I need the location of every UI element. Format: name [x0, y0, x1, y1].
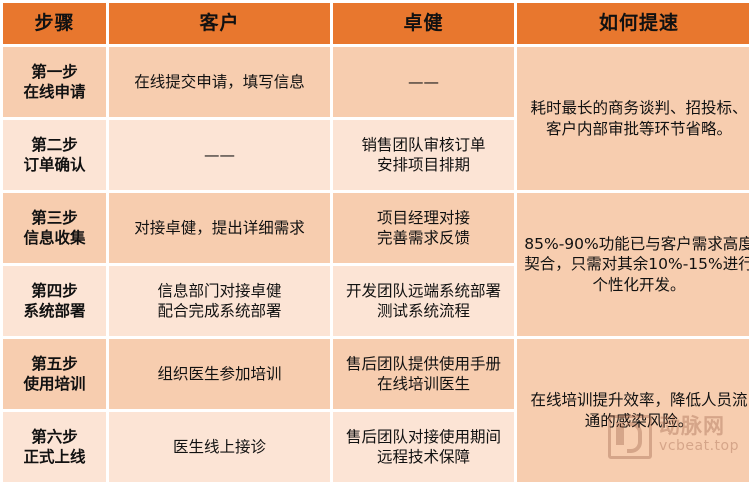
column-header-customer: 客户: [109, 3, 330, 44]
process-table-container: 步骤 客户 卓健 如何提速 第一步 在线申请 在线提交申请，填写信息 —— 耗时…: [0, 0, 749, 467]
zhuojian-task-2: 销售团队审核订单 安排项目排期: [333, 120, 514, 190]
speedup-note-2: 85%-90%功能已与客户需求高度契合，只需对其余10%-15%进行个性化开发。: [517, 193, 749, 336]
table-header-row: 步骤 客户 卓健 如何提速: [3, 3, 749, 44]
speedup-note-1: 耗时最长的商务谈判、招投标、客户内部审批等环节省略。: [517, 47, 749, 190]
zhuojian-task-3: 项目经理对接 完善需求反馈: [333, 193, 514, 263]
column-header-zhuojian: 卓健: [333, 3, 514, 44]
customer-task-2: ——: [109, 120, 330, 190]
zhuojian-task-6: 售后团队对接使用期间 远程技术保障: [333, 412, 514, 482]
table-header: 步骤 客户 卓健 如何提速: [3, 3, 749, 44]
step-label-3: 第三步 信息收集: [3, 193, 106, 263]
customer-task-5: 组织医生参加培训: [109, 339, 330, 409]
customer-task-4: 信息部门对接卓健 配合完成系统部署: [109, 266, 330, 336]
table-row: 第五步 使用培训 组织医生参加培训 售后团队提供使用手册 在线培训医生 在线培训…: [3, 339, 749, 409]
table-body: 第一步 在线申请 在线提交申请，填写信息 —— 耗时最长的商务谈判、招投标、客户…: [3, 47, 749, 482]
customer-task-6: 医生线上接诊: [109, 412, 330, 482]
zhuojian-task-4: 开发团队远端系统部署 测试系统流程: [333, 266, 514, 336]
zhuojian-task-5: 售后团队提供使用手册 在线培训医生: [333, 339, 514, 409]
column-header-speedup: 如何提速: [517, 3, 749, 44]
zhuojian-task-1: ——: [333, 47, 514, 117]
step-label-2: 第二步 订单确认: [3, 120, 106, 190]
step-label-4: 第四步 系统部署: [3, 266, 106, 336]
customer-task-1: 在线提交申请，填写信息: [109, 47, 330, 117]
step-label-1: 第一步 在线申请: [3, 47, 106, 117]
table-row: 第三步 信息收集 对接卓健，提出详细需求 项目经理对接 完善需求反馈 85%-9…: [3, 193, 749, 263]
implementation-process-table: 步骤 客户 卓健 如何提速 第一步 在线申请 在线提交申请，填写信息 —— 耗时…: [0, 0, 749, 485]
column-header-step: 步骤: [3, 3, 106, 44]
speedup-note-3: 在线培训提升效率，降低人员流通的感染风险。: [517, 339, 749, 482]
table-row: 第一步 在线申请 在线提交申请，填写信息 —— 耗时最长的商务谈判、招投标、客户…: [3, 47, 749, 117]
step-label-5: 第五步 使用培训: [3, 339, 106, 409]
step-label-6: 第六步 正式上线: [3, 412, 106, 482]
customer-task-3: 对接卓健，提出详细需求: [109, 193, 330, 263]
